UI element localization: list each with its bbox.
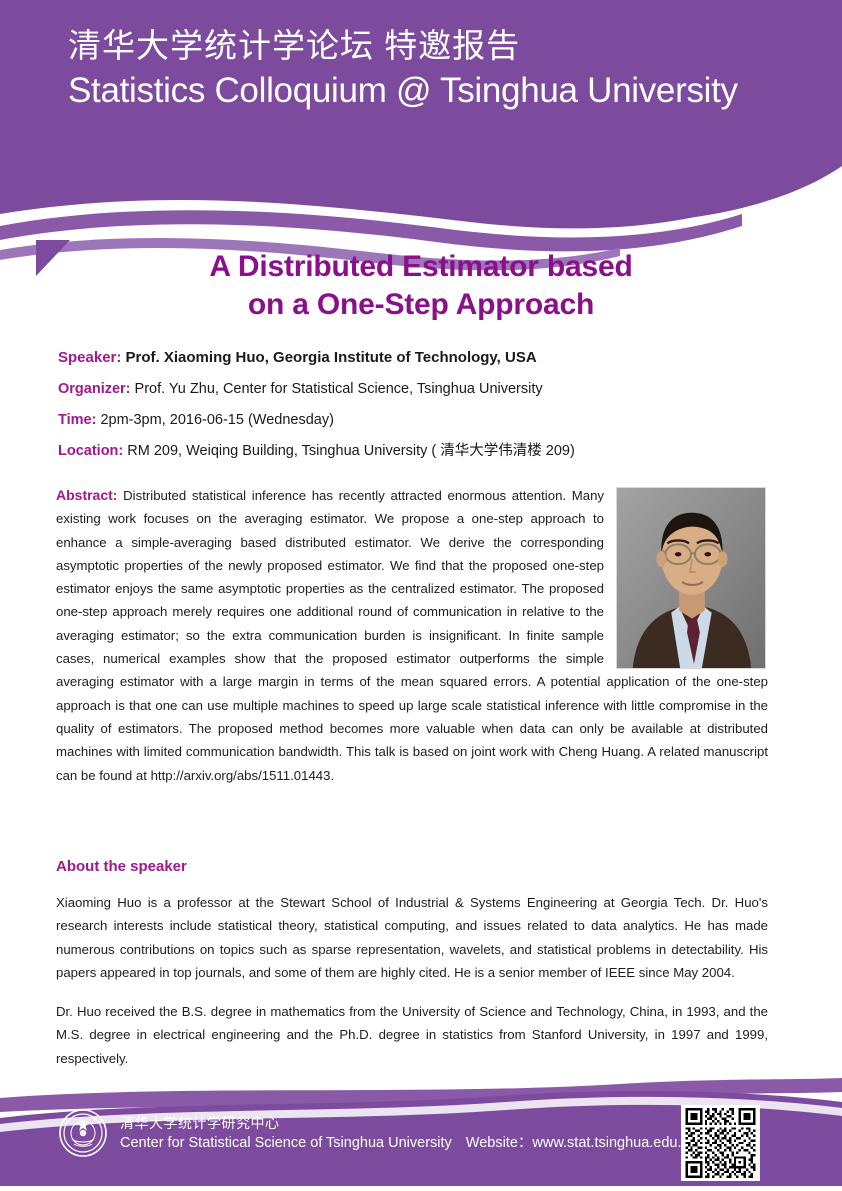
organizer-label: Organizer: (58, 381, 131, 397)
talk-title-line-2: on a One-Step Approach (60, 286, 782, 324)
speaker-portrait-image (617, 488, 765, 668)
talk-meta-block: Speaker: Prof. Xiaoming Huo, Georgia Ins… (58, 348, 788, 472)
meta-row-location: Location: RM 209, Weiqing Building, Tsin… (58, 441, 788, 461)
qr-code-image (684, 1108, 757, 1178)
about-speaker-paragraph-2: Dr. Huo received the B.S. degree in math… (56, 1000, 768, 1070)
time-label: Time: (58, 412, 96, 428)
meta-row-organizer: Organizer: Prof. Yu Zhu, Center for Stat… (58, 379, 788, 399)
organizer-value: Prof. Yu Zhu, Center for Statistical Sci… (135, 381, 543, 397)
qr-code[interactable] (681, 1105, 760, 1181)
seminar-poster: 清华大学统计学论坛 特邀报告 Statistics Colloquium @ T… (0, 0, 842, 1191)
about-speaker-heading: About the speaker (56, 856, 768, 878)
footer-brand: 清华大学统计学研究中心 Center for Statistical Scien… (58, 1108, 697, 1158)
poster-header: 清华大学统计学论坛 特邀报告 Statistics Colloquium @ T… (0, 0, 842, 290)
header-title-block: 清华大学统计学论坛 特邀报告 Statistics Colloquium @ T… (68, 24, 808, 114)
header-chinese-title: 清华大学统计学论坛 特邀报告 (68, 24, 808, 68)
location-label: Location: (58, 443, 123, 459)
location-value: RM 209, Weiqing Building, Tsinghua Unive… (127, 443, 575, 459)
talk-title-line-1: A Distributed Estimator based (60, 248, 782, 286)
about-speaker-paragraph-1: Xiaoming Huo is a professor at the Stewa… (56, 891, 768, 984)
footer-org-english: Center for Statistical Science of Tsingh… (120, 1135, 452, 1151)
time-value: 2pm-3pm, 2016-06-15 (Wednesday) (100, 412, 333, 428)
meta-row-time: Time: 2pm-3pm, 2016-06-15 (Wednesday) (58, 410, 788, 430)
speaker-value: Prof. Xiaoming Huo, Georgia Institute of… (126, 349, 537, 366)
speaker-label: Speaker: (58, 349, 121, 366)
speaker-photo (616, 487, 766, 669)
meta-row-speaker: Speaker: Prof. Xiaoming Huo, Georgia Ins… (58, 348, 788, 368)
footer-text-block: 清华大学统计学研究中心 Center for Statistical Scien… (120, 1114, 697, 1153)
about-speaker-block: About the speaker Xiaoming Huo is a prof… (56, 856, 768, 1086)
abstract-label: Abstract: (56, 487, 117, 503)
footer-website[interactable]: Website：www.stat.tsinghua.edu.cn (466, 1135, 697, 1151)
footer-org-chinese: 清华大学统计学研究中心 (120, 1114, 697, 1133)
footer-org-english-line: Center for Statistical Science of Tsingh… (120, 1133, 697, 1153)
tsinghua-seal-icon (58, 1108, 108, 1158)
header-english-title: Statistics Colloquium @ Tsinghua Univers… (68, 68, 808, 114)
talk-title: A Distributed Estimator based on a One-S… (60, 248, 782, 324)
